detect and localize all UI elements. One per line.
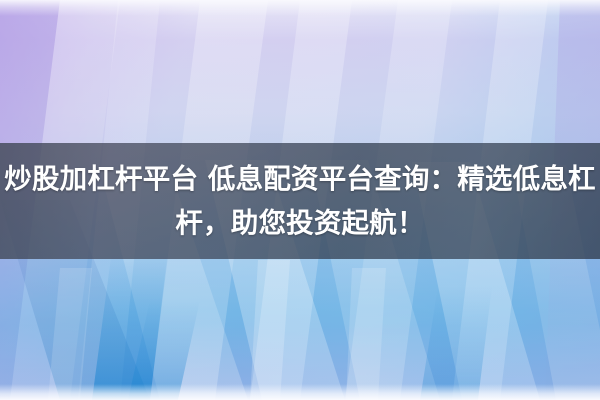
promo-banner: 炒股加杠杆平台 低息配资平台查询：精选低息杠杆，助您投资起航！ (0, 0, 600, 400)
headline-band: 炒股加杠杆平台 低息配资平台查询：精选低息杠杆，助您投资起航！ (0, 143, 600, 259)
banner-headline: 炒股加杠杆平台 低息配资平台查询：精选低息杠杆，助您投资起航！ (0, 157, 600, 245)
